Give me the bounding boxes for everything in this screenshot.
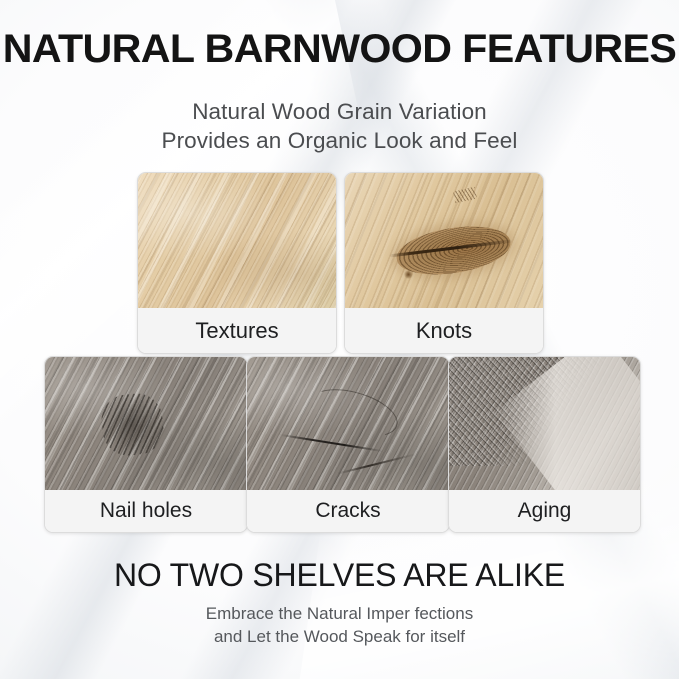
feature-label-textures: Textures <box>138 308 336 353</box>
feature-card-nail-holes[interactable]: Nail holes <box>44 356 248 533</box>
wood-grain-texture <box>138 173 336 308</box>
page-title: NATURAL BARNWOOD FEATURES <box>0 27 679 72</box>
infographic-poster: NATURAL BARNWOOD FEATURES Natural Wood G… <box>0 0 679 679</box>
feature-label-knots: Knots <box>345 308 543 353</box>
footer-note-line-2: and Let the Wood Speak for itself <box>0 625 679 648</box>
feature-card-textures[interactable]: Textures <box>137 172 337 354</box>
subtitle-line-1: Natural Wood Grain Variation <box>0 98 679 127</box>
footer-note-line-1: Embrace the Natural Imper fections <box>0 602 679 625</box>
feature-card-cracks[interactable]: Cracks <box>246 356 450 533</box>
swatch-cracks <box>247 357 449 490</box>
feature-label-cracks: Cracks <box>247 490 449 532</box>
swatch-knots <box>345 173 543 308</box>
feature-label-nail-holes: Nail holes <box>45 490 247 532</box>
page-subtitle: Natural Wood Grain Variation Provides an… <box>0 98 679 156</box>
footer-tagline: NO TWO SHELVES ARE ALIKE <box>0 557 679 594</box>
feature-card-aging[interactable]: Aging <box>448 356 641 533</box>
swatch-aging <box>449 357 640 490</box>
footer-note: Embrace the Natural Imper fections and L… <box>0 602 679 649</box>
feature-card-knots[interactable]: Knots <box>344 172 544 354</box>
subtitle-line-2: Provides an Organic Look and Feel <box>0 127 679 156</box>
swatch-textures <box>138 173 336 308</box>
swatch-nail-holes <box>45 357 247 490</box>
feature-label-aging: Aging <box>449 490 640 532</box>
